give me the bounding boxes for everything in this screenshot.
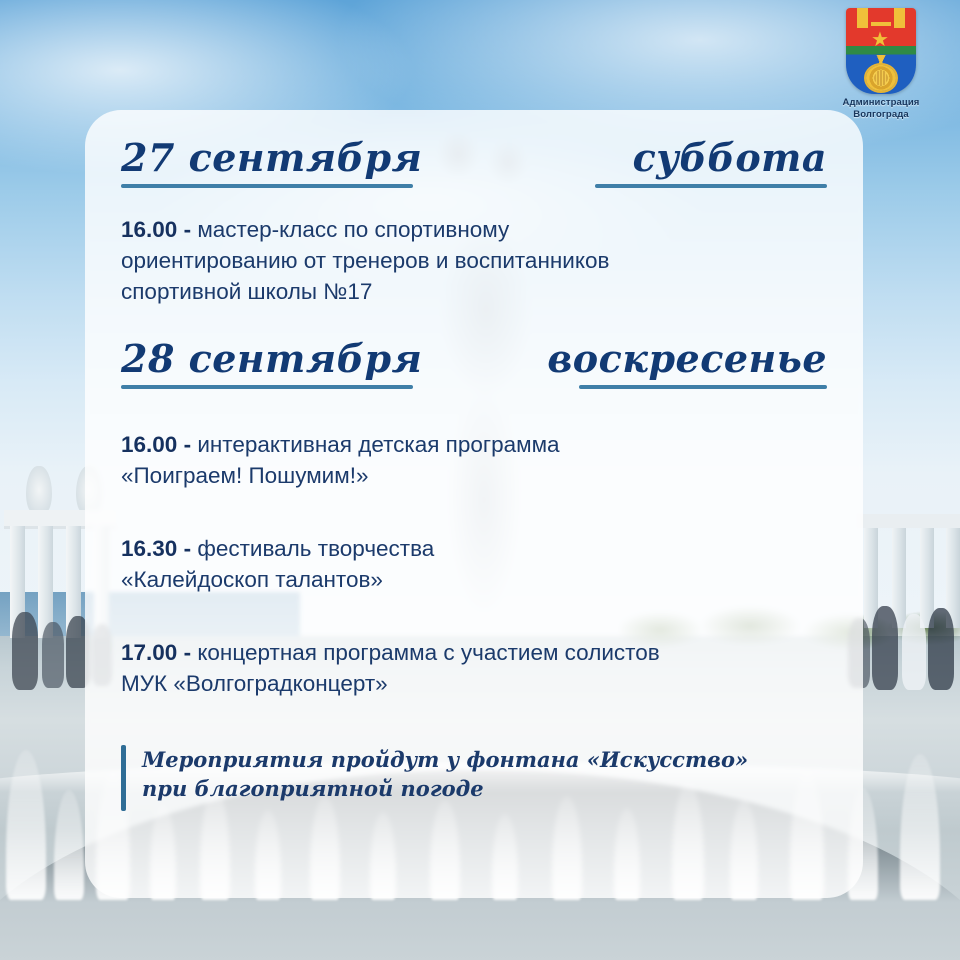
event-text-line-1: концертная программа с участием солистов xyxy=(197,640,659,665)
event-time: 16.00 xyxy=(121,432,177,457)
event-text-line-3: спортивной школы №17 xyxy=(121,279,372,304)
event-item: 16.00 - мастер-класс по спортивному орие… xyxy=(121,214,827,307)
note-text: Мероприятия пройдут у фонтана «Искусство… xyxy=(142,745,748,811)
event-time: 16.30 xyxy=(121,536,177,561)
date-sunday: 28 сентября xyxy=(121,337,422,385)
volgograd-coat-of-arms-icon xyxy=(846,8,916,94)
administration-emblem: Администрация Волгограда xyxy=(822,6,940,120)
event-text-line-2: МУК «Волгоградконцерт» xyxy=(121,671,388,696)
weekday-sunday-underline xyxy=(579,385,827,389)
event-poster: Администрация Волгограда 27 сентября суб… xyxy=(0,0,960,960)
note-line-1: Мероприятия пройдут у фонтана «Искусство… xyxy=(142,745,748,774)
events-saturday: 16.00 - мастер-класс по спортивному орие… xyxy=(115,214,833,307)
event-text-line-1: мастер-класс по спортивному xyxy=(197,217,509,242)
emblem-caption-line-2: Волгограда xyxy=(822,109,940,121)
event-text-line-2: ориентированию от тренеров и воспитанник… xyxy=(121,248,609,273)
day-header-sunday: 28 сентября воскресенье xyxy=(115,337,833,389)
event-item: 16.30 - фестиваль творчества «Калейдоско… xyxy=(121,533,827,595)
date-sunday-underline xyxy=(121,385,413,389)
schedule-card: 27 сентября суббота 16.00 - мастер-класс… xyxy=(85,110,863,898)
event-dash: - xyxy=(177,432,197,457)
weather-note: Мероприятия пройдут у фонтана «Искусство… xyxy=(115,745,833,811)
emblem-caption-line-1: Администрация xyxy=(822,97,940,109)
event-text-line-2: «Калейдоскоп талантов» xyxy=(121,567,383,592)
emblem-caption: Администрация Волгограда xyxy=(822,97,940,120)
event-time: 16.00 xyxy=(121,217,177,242)
date-saturday: 27 сентября xyxy=(121,136,422,184)
weekday-saturday: суббота xyxy=(633,136,827,184)
day-header-saturday: 27 сентября суббота xyxy=(115,136,833,188)
date-saturday-underline xyxy=(121,184,413,188)
event-time: 17.00 xyxy=(121,640,177,665)
note-line-2: при благоприятной погоде xyxy=(142,774,748,803)
event-dash: - xyxy=(177,640,197,665)
weekday-sunday: воскресенье xyxy=(547,337,827,385)
event-text-line-1: фестиваль творчества xyxy=(197,536,434,561)
event-item: 17.00 - концертная программа с участием … xyxy=(121,637,827,699)
note-accent-bar xyxy=(121,745,126,811)
event-dash: - xyxy=(177,536,197,561)
event-text-line-2: «Поиграем! Пошумим!» xyxy=(121,463,369,488)
weekday-saturday-underline xyxy=(595,184,827,188)
event-text-line-1: интерактивная детская программа xyxy=(197,432,559,457)
event-dash: - xyxy=(177,217,197,242)
event-item: 16.00 - интерактивная детская программа … xyxy=(121,429,827,491)
events-sunday: 16.00 - интерактивная детская программа … xyxy=(115,429,833,699)
